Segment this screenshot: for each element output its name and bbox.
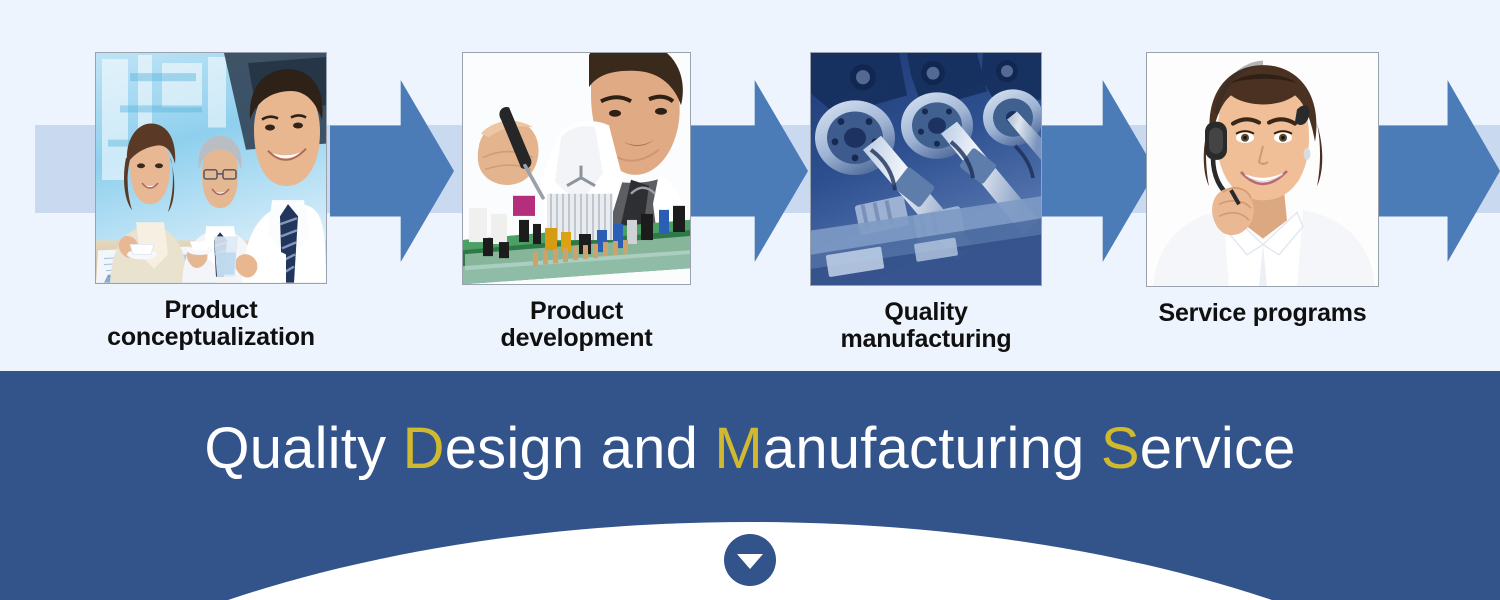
title-part-3: esign and (445, 416, 715, 481)
process-step-service-programs[interactable]: Service programs (1146, 52, 1379, 327)
circuit-board-technician-photo (462, 52, 691, 285)
banner-title: Quality Design and Manufacturing Service (0, 415, 1500, 482)
title-part-0: Q (204, 416, 249, 481)
business-meeting-photo (95, 52, 327, 284)
title-part-4: M (714, 416, 763, 481)
industrial-machinery-photo (810, 52, 1042, 286)
process-step-product-development[interactable]: Product development (462, 52, 691, 352)
step-label-line-2: development (501, 324, 653, 352)
process-step-label: Product conceptualization (95, 297, 327, 351)
step-label-line-1: Service programs (1158, 299, 1366, 327)
title-part-5: anufacturing (763, 416, 1101, 481)
headline-banner: Quality Design and Manufacturing Service (0, 371, 1500, 600)
process-step-product-conceptualization[interactable]: Product conceptualization (95, 52, 327, 351)
process-step-label: Service programs (1146, 300, 1379, 327)
process-arrow-2 (684, 80, 808, 262)
title-part-6: S (1101, 416, 1140, 481)
page-root: Product conceptualization (0, 0, 1500, 600)
process-step-quality-manufacturing[interactable]: Quality manufacturing (810, 52, 1042, 353)
step-label-line-2: conceptualization (107, 323, 315, 351)
customer-service-agent-photo (1146, 52, 1379, 287)
process-arrow-4 (1378, 80, 1500, 262)
title-part-2: D (403, 416, 445, 481)
step-label-line-1: Quality manufacturing (840, 298, 1011, 353)
title-part-7: ervice (1140, 416, 1296, 481)
process-step-label: Product development (462, 298, 691, 352)
step-label-line-1: Product (164, 296, 257, 324)
chevron-down-icon (737, 554, 763, 569)
process-step-label: Quality manufacturing (810, 299, 1042, 353)
step-label-line-1: Product (530, 297, 623, 325)
scroll-down-button[interactable] (724, 534, 776, 586)
process-arrow-3 (1032, 80, 1156, 262)
title-part-1: uality (250, 416, 403, 481)
process-arrow-1 (330, 80, 454, 262)
process-flow-section: Product conceptualization (0, 0, 1500, 371)
